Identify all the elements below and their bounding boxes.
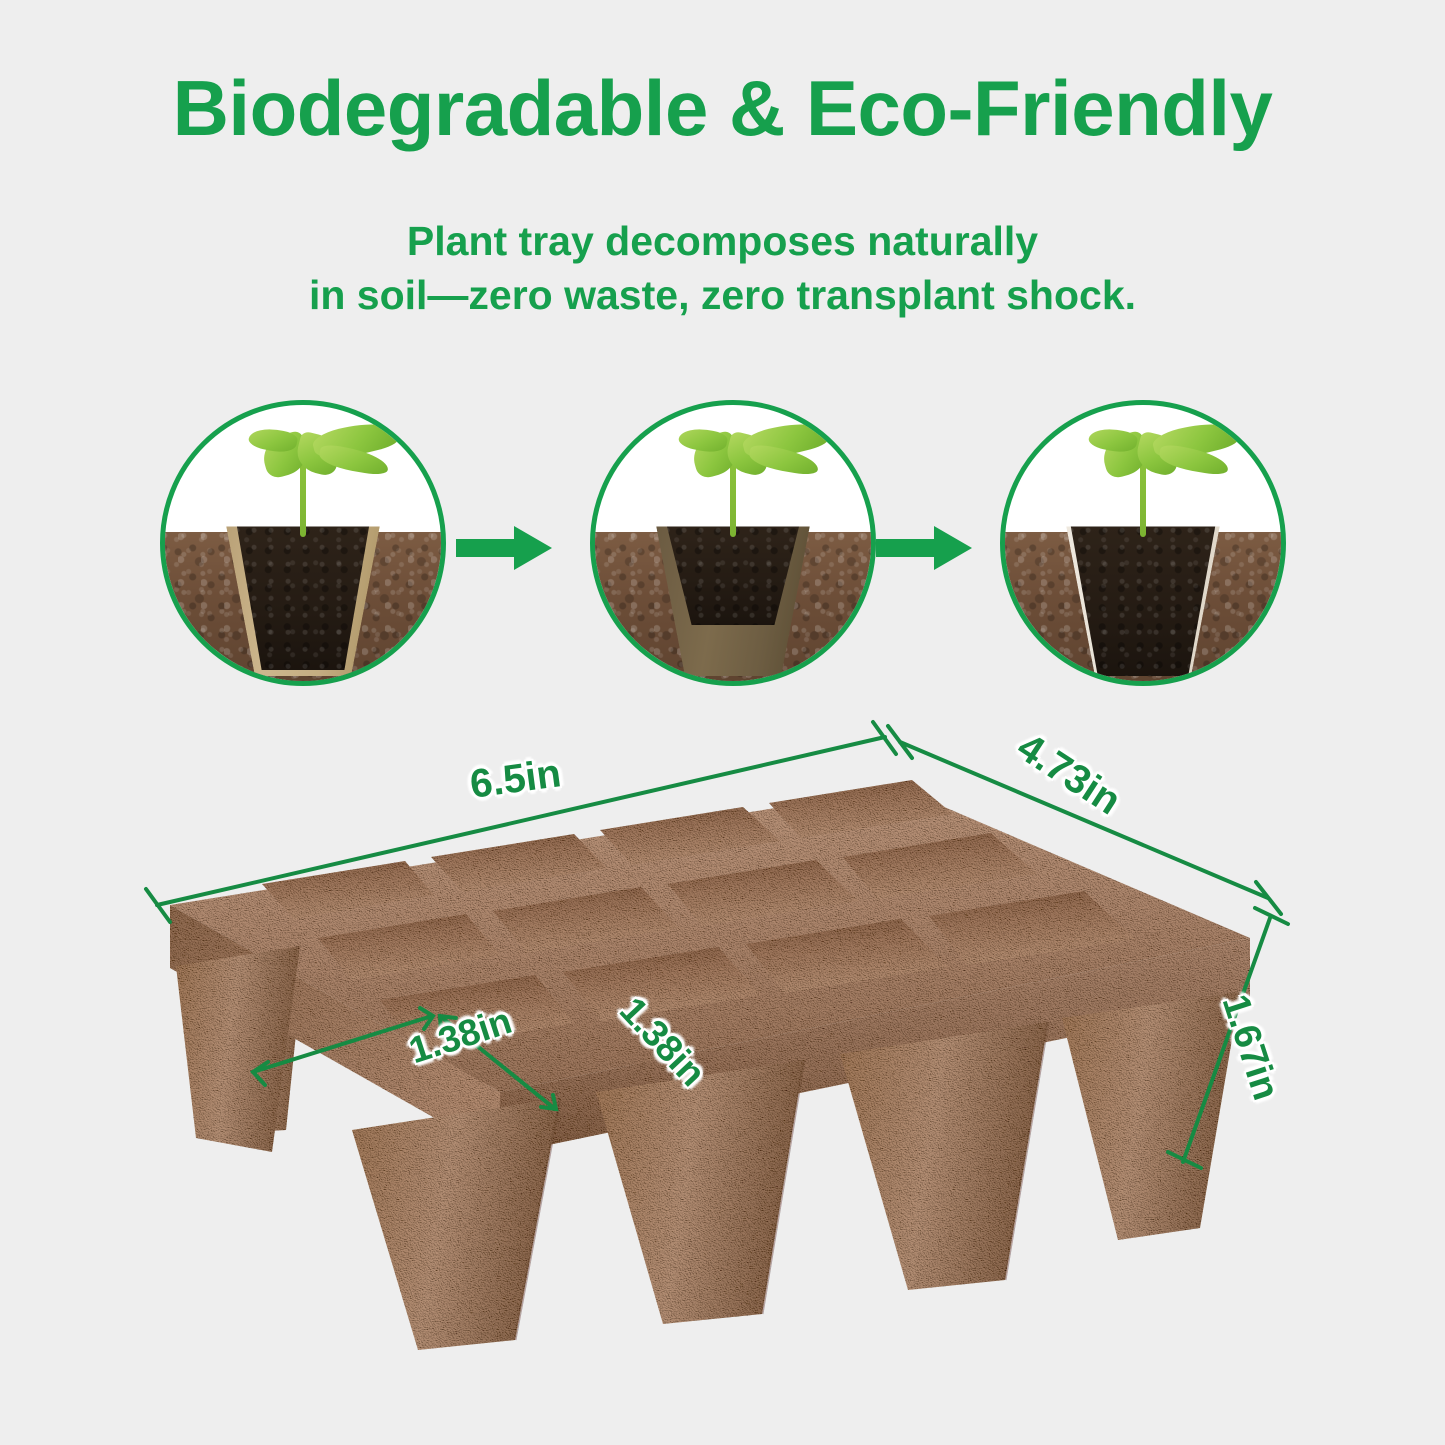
arrow-head — [514, 526, 552, 570]
tray-cone — [352, 1098, 560, 1350]
tray-cone — [840, 1022, 1048, 1290]
arrow-right-icon — [876, 526, 972, 570]
decomposition-step-diagram — [0, 398, 1445, 698]
tray-body — [170, 780, 1250, 1350]
subtitle-line-2: in soil—zero waste, zero transplant shoc… — [0, 268, 1445, 322]
product-photo-with-dimensions — [0, 700, 1445, 1445]
tray-cone — [1062, 992, 1240, 1240]
subtitle-line-1: Plant tray decomposes naturally — [407, 218, 1038, 264]
step-3-fully-decomposed-pot — [1000, 400, 1286, 686]
tray-cone — [596, 1060, 804, 1324]
step-2-partially-decomposed-pot — [590, 400, 876, 686]
infographic-poster: Biodegradable & Eco-Friendly Plant tray … — [0, 0, 1445, 1445]
arrow-right-icon — [456, 526, 552, 570]
page-subtitle: Plant tray decomposes naturally in soil—… — [0, 214, 1445, 322]
arrow-shaft — [876, 539, 938, 557]
step-3-scene — [1005, 405, 1281, 681]
page-title: Biodegradable & Eco-Friendly — [0, 68, 1445, 150]
step-2-scene — [595, 405, 871, 681]
seed-tray-illustration — [0, 700, 1445, 1445]
step-1-intact-peat-pot — [160, 400, 446, 686]
arrow-head — [934, 526, 972, 570]
step-1-scene — [165, 405, 441, 681]
arrow-shaft — [456, 539, 518, 557]
